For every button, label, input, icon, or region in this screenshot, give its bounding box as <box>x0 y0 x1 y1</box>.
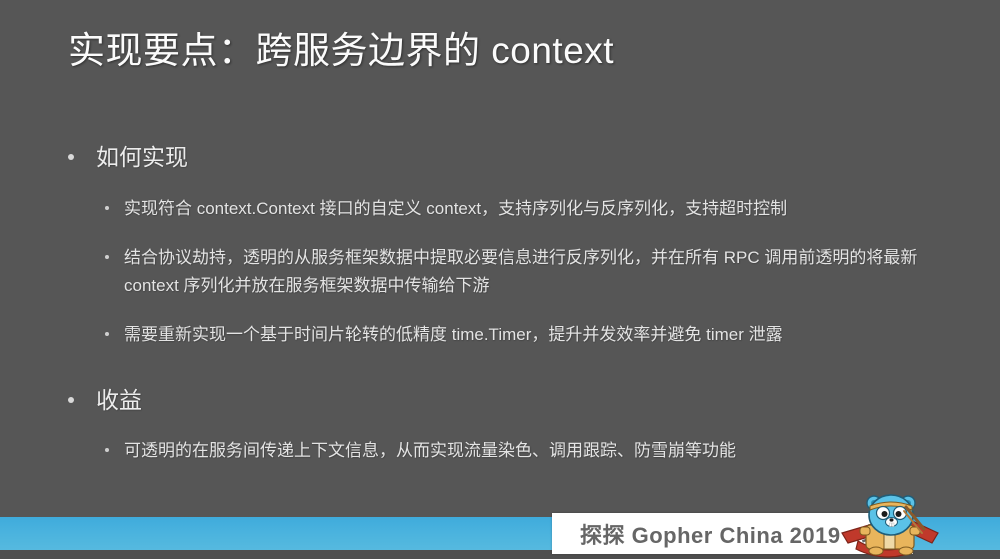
spacer <box>0 349 1000 383</box>
spacer <box>0 179 1000 195</box>
bullet-level2: 可透明的在服务间传递上下文信息，从而实现流量染色、调用跟踪、防雪崩等功能 <box>0 437 1000 465</box>
bullet-dot-icon <box>105 206 109 210</box>
bullet-level1: 如何实现 <box>0 140 1000 175</box>
bullet-level1: 收益 <box>0 383 1000 418</box>
bullet-dot-icon <box>105 448 109 452</box>
bullet-level1-label: 如何实现 <box>96 144 188 170</box>
footer-banner: 探探 Gopher China 2019 · 北京 <box>552 513 913 554</box>
bullet-level1-label: 收益 <box>96 387 142 413</box>
spacer <box>0 299 1000 321</box>
bullet-dot-icon <box>68 154 74 160</box>
bullet-level2: 结合协议劫持，透明的从服务框架数据中提取必要信息进行反序列化，并在所有 RPC … <box>0 244 1000 299</box>
bullet-level2-label: 可透明的在服务间传递上下文信息，从而实现流量染色、调用跟踪、防雪崩等功能 <box>124 441 736 460</box>
footer-banner-label: 探探 Gopher China 2019 · 北京 <box>580 513 907 554</box>
bullet-dot-icon <box>105 255 109 259</box>
bullet-dot-icon <box>105 332 109 336</box>
spacer <box>0 421 1000 437</box>
page-title: 实现要点：跨服务边界的 context <box>68 28 614 74</box>
presentation-slide: 实现要点：跨服务边界的 context 如何实现 实现符合 context.Co… <box>0 0 1000 559</box>
bullet-level2: 实现符合 context.Context 接口的自定义 context，支持序列… <box>0 195 1000 223</box>
bullet-dot-icon <box>68 397 74 403</box>
spacer <box>0 222 1000 244</box>
bullet-level2-label: 结合协议劫持，透明的从服务框架数据中提取必要信息进行反序列化，并在所有 RPC … <box>124 248 917 295</box>
slide-body: 如何实现 实现符合 context.Context 接口的自定义 context… <box>0 140 1000 465</box>
bullet-level2-label: 实现符合 context.Context 接口的自定义 context，支持序列… <box>124 199 787 218</box>
bullet-level2-label: 需要重新实现一个基于时间片轮转的低精度 time.Timer，提升并发效率并避免… <box>124 325 783 344</box>
bullet-level2: 需要重新实现一个基于时间片轮转的低精度 time.Timer，提升并发效率并避免… <box>0 321 1000 349</box>
